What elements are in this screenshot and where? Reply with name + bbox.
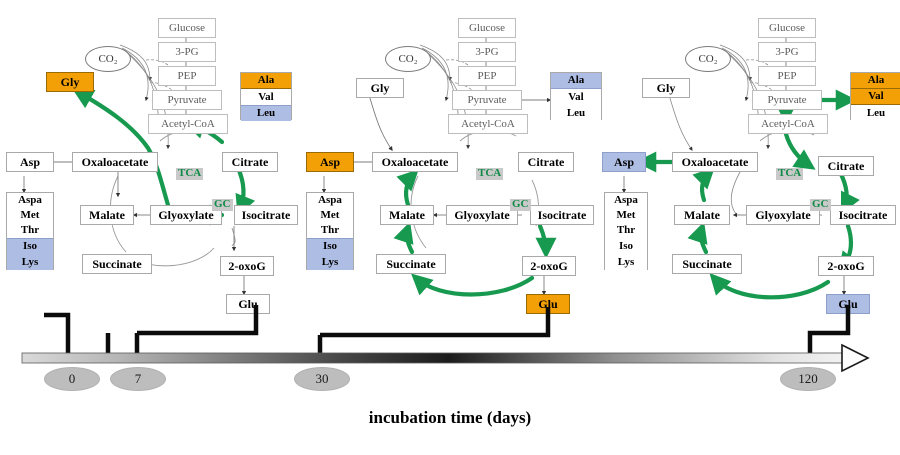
label-tca: TCA — [176, 168, 203, 180]
aa-stack-asp-family: Aspa Met Thr Iso Lys — [6, 192, 54, 270]
aa-stack-asp-family: Aspa Met Thr Iso Lys — [604, 192, 648, 270]
figure-canvas: Glucose 3-PG PEP Pyruvate Acetyl-CoA CO₂… — [0, 0, 900, 455]
node-malate: Malate — [80, 205, 134, 225]
node-pyruvate: Pyruvate — [452, 90, 522, 110]
node-3pg: 3-PG — [158, 42, 216, 62]
node-gly: Gly — [642, 78, 690, 98]
label-gc: GC — [212, 199, 233, 211]
node-glyoxylate: Glyoxylate — [746, 205, 820, 225]
node-glucose: Glucose — [158, 18, 216, 38]
node-glyoxylate: Glyoxylate — [446, 205, 518, 225]
node-pyruvate: Pyruvate — [152, 90, 222, 110]
aa-stack-ala-val-leu: Ala Val Leu — [850, 72, 900, 120]
aa-lys: Lys — [307, 254, 353, 270]
aa-stack-ala-val-leu: Ala Val Leu — [240, 72, 292, 120]
aa-aspa: Aspa — [307, 193, 353, 208]
aa-aspa: Aspa — [605, 193, 647, 208]
node-co2: CO₂ — [85, 46, 131, 72]
node-2oxog: 2-oxoG — [220, 256, 274, 276]
node-pep: PEP — [158, 66, 216, 86]
aa-thr: Thr — [307, 223, 353, 238]
node-3pg: 3-PG — [758, 42, 816, 62]
node-isocitrate: Isocitrate — [530, 205, 594, 225]
timeline-tick-7: 7 — [110, 367, 166, 391]
aa-lys: Lys — [605, 254, 647, 270]
node-citrate: Citrate — [222, 152, 278, 172]
node-citrate: Citrate — [518, 152, 574, 172]
aa-val: Val — [551, 89, 601, 105]
node-pep: PEP — [458, 66, 516, 86]
aa-met: Met — [307, 208, 353, 223]
axis-title: incubation time (days) — [0, 408, 900, 428]
aa-iso: Iso — [307, 238, 353, 254]
node-glucose: Glucose — [758, 18, 816, 38]
node-oxaloacetate: Oxaloacetate — [372, 152, 458, 172]
pathway-panel-day0-7: Glucose 3-PG PEP Pyruvate Acetyl-CoA CO₂… — [0, 0, 300, 320]
aa-leu: Leu — [551, 105, 601, 121]
node-citrate: Citrate — [818, 156, 874, 176]
node-asp: Asp — [602, 152, 646, 172]
node-succinate: Succinate — [672, 254, 742, 274]
node-pep: PEP — [758, 66, 816, 86]
node-isocitrate: Isocitrate — [830, 205, 896, 225]
node-malate: Malate — [380, 205, 434, 225]
aa-thr: Thr — [605, 223, 647, 238]
label-tca: TCA — [776, 168, 803, 180]
node-acetyl-coa: Acetyl-CoA — [448, 114, 528, 134]
aa-aspa: Aspa — [7, 193, 53, 208]
timeline-tick-30: 30 — [294, 367, 350, 391]
node-gly: Gly — [46, 72, 94, 92]
node-oxaloacetate: Oxaloacetate — [672, 152, 758, 172]
node-acetyl-coa: Acetyl-CoA — [148, 114, 228, 134]
node-oxaloacetate: Oxaloacetate — [72, 152, 158, 172]
node-isocitrate: Isocitrate — [234, 205, 298, 225]
aa-met: Met — [605, 208, 647, 223]
timeline-tick-120: 120 — [780, 367, 836, 391]
node-2oxog: 2-oxoG — [522, 256, 576, 276]
node-co2: CO₂ — [385, 46, 431, 72]
pathway-panel-day120: Glucose 3-PG PEP Pyruvate Acetyl-CoA CO₂… — [600, 0, 900, 320]
node-3pg: 3-PG — [458, 42, 516, 62]
node-co2: CO₂ — [685, 46, 731, 72]
label-gc: GC — [510, 199, 531, 211]
timeline-tick-0: 0 — [44, 367, 100, 391]
aa-met: Met — [7, 208, 53, 223]
node-glucose: Glucose — [458, 18, 516, 38]
aa-lys: Lys — [7, 254, 53, 270]
node-pyruvate: Pyruvate — [752, 90, 822, 110]
label-tca: TCA — [476, 168, 503, 180]
node-gly: Gly — [356, 78, 404, 98]
pathway-panel-day30: Glucose 3-PG PEP Pyruvate Acetyl-CoA CO₂… — [300, 0, 600, 320]
aa-val: Val — [241, 89, 291, 105]
node-malate: Malate — [674, 205, 730, 225]
node-succinate: Succinate — [82, 254, 152, 274]
aa-thr: Thr — [7, 223, 53, 238]
aa-ala: Ala — [241, 73, 291, 89]
aa-ala: Ala — [551, 73, 601, 89]
node-asp: Asp — [306, 152, 354, 172]
node-succinate: Succinate — [376, 254, 446, 274]
aa-val: Val — [851, 89, 900, 105]
aa-ala: Ala — [851, 73, 900, 89]
node-acetyl-coa: Acetyl-CoA — [748, 114, 828, 134]
timeline: 0 7 30 120 — [0, 295, 900, 455]
aa-leu: Leu — [851, 105, 900, 121]
label-gc: GC — [810, 199, 831, 211]
aa-stack-ala-val-leu: Ala Val Leu — [550, 72, 602, 120]
node-asp: Asp — [6, 152, 54, 172]
aa-iso: Iso — [605, 238, 647, 254]
aa-leu: Leu — [241, 105, 291, 121]
node-2oxog: 2-oxoG — [818, 256, 874, 276]
aa-iso: Iso — [7, 238, 53, 254]
aa-stack-asp-family: Aspa Met Thr Iso Lys — [306, 192, 354, 270]
